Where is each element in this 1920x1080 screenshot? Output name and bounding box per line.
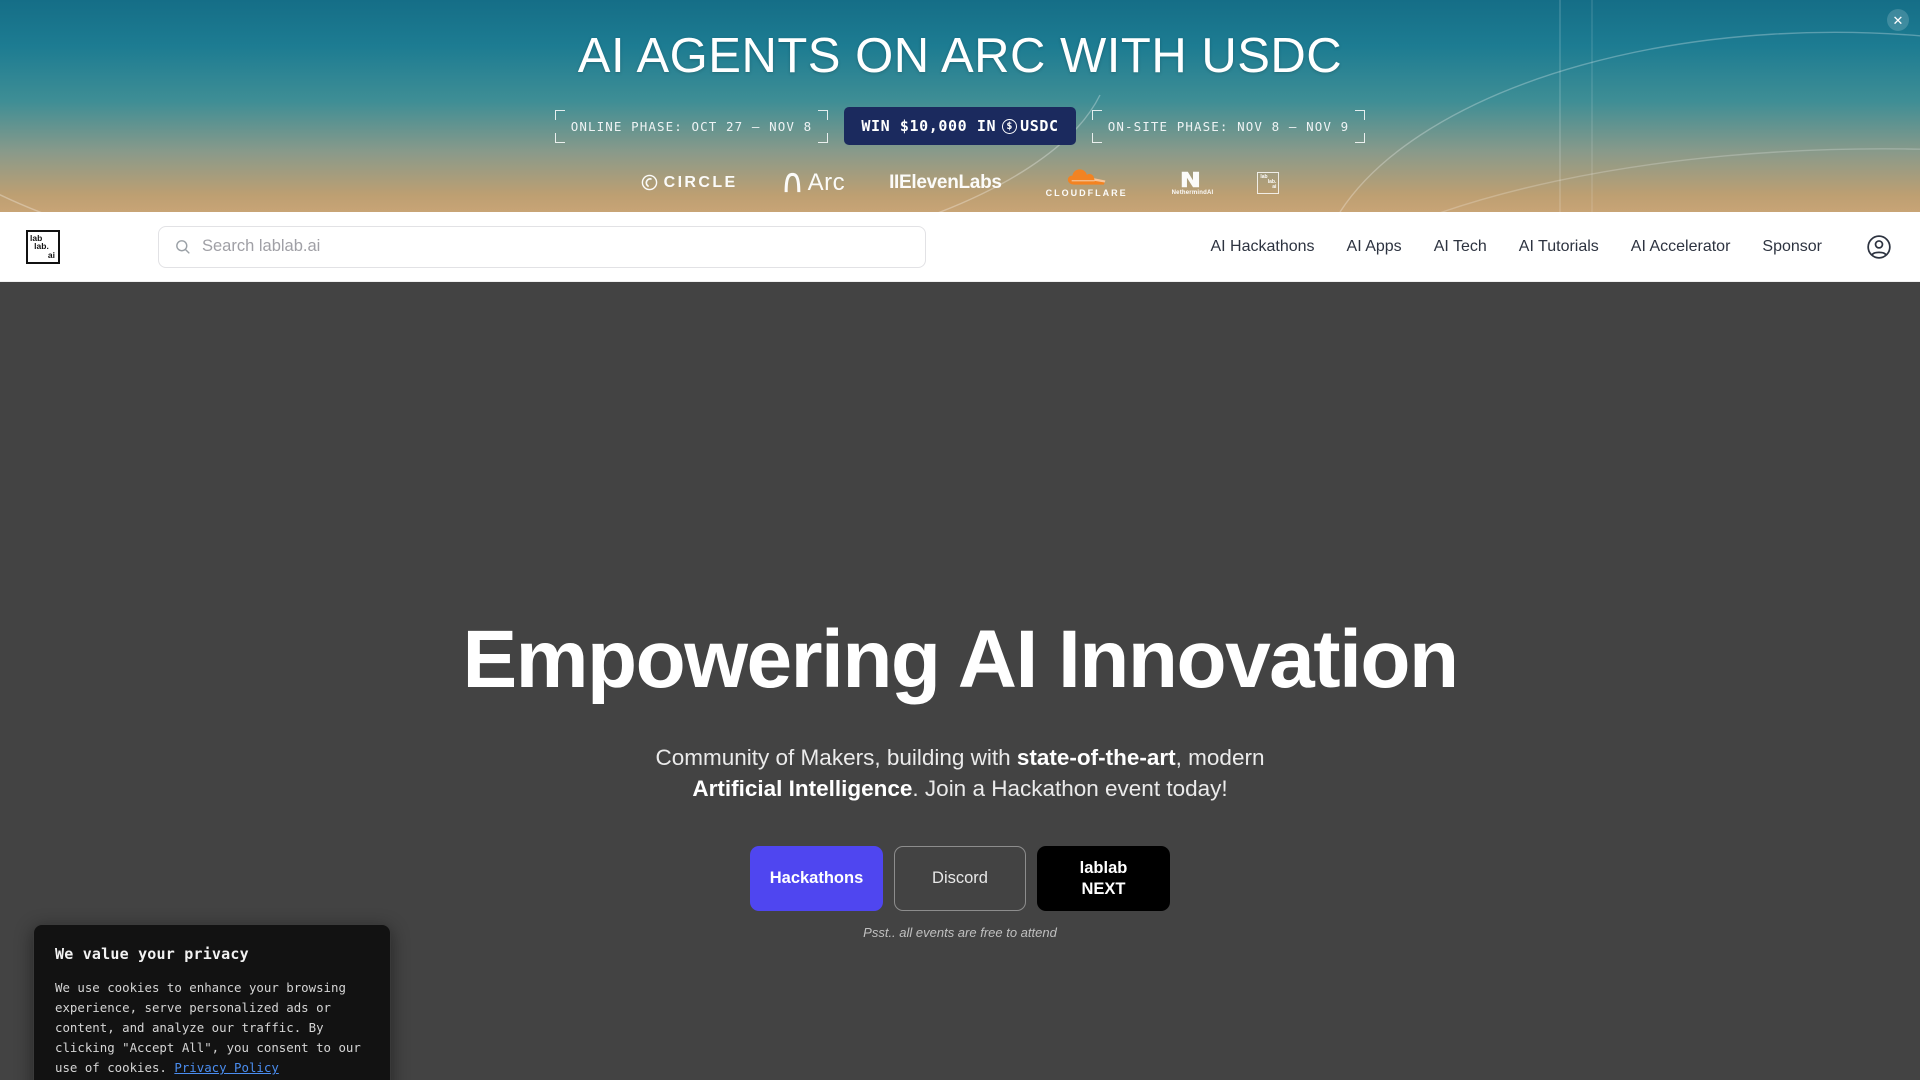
hackathons-button[interactable]: Hackathons	[750, 846, 883, 911]
cloudflare-logo-icon	[1064, 167, 1110, 187]
prize-suffix: USDC	[1020, 117, 1059, 135]
arc-logo-icon	[782, 171, 803, 194]
hero-section: Empowering AI Innovation Community of Ma…	[0, 282, 1920, 1080]
discord-button-label: Discord	[932, 868, 988, 889]
sponsor-logo-row: CIRCLE Arc IIElevenLabs CLOUDFLARE	[641, 167, 1280, 198]
prize-badge[interactable]: WIN $10,000 IN $ USDC	[844, 107, 1075, 145]
sponsor-arc[interactable]: Arc	[782, 169, 846, 197]
nav-item-ai-apps[interactable]: AI Apps	[1347, 238, 1402, 256]
subtitle-text-b: , modern	[1176, 745, 1265, 770]
site-header: lab lab. ai Search lablab.ai AI Hackatho…	[0, 212, 1920, 282]
online-phase-badge: ONLINE PHASE: OCT 27 – NOV 8	[555, 110, 829, 143]
sponsor-cloudflare[interactable]: CLOUDFLARE	[1046, 167, 1128, 198]
main-navigation: AI Hackathons AI Apps AI Tech AI Tutoria…	[1210, 234, 1892, 260]
onsite-phase-badge: ON-SITE PHASE: NOV 8 – NOV 9	[1092, 110, 1366, 143]
subtitle-emphasis-2: Artificial Intelligence	[692, 776, 912, 801]
discord-button[interactable]: Discord	[894, 846, 1026, 911]
sponsor-lablab[interactable]: lab lab. ai	[1257, 172, 1279, 194]
hero-subtitle-line-1: Community of Makers, building with state…	[656, 742, 1265, 773]
sponsor-lablab-line1: lab	[1260, 175, 1267, 180]
hero-subtitle: Community of Makers, building with state…	[656, 742, 1265, 804]
cookie-consent-dialog: We value your privacy We use cookies to …	[33, 924, 391, 1080]
hero-cta-row: Hackathons Discord lablab NEXT	[750, 846, 1170, 911]
logo-line-3: ai	[48, 251, 55, 260]
lablab-next-label-line2: NEXT	[1081, 879, 1125, 900]
promo-title: AI AGENTS ON ARC WITH USDC	[578, 32, 1342, 81]
usdc-dollar-icon: $	[1002, 119, 1017, 134]
cookie-dialog-body: We use cookies to enhance your browsing …	[55, 978, 369, 1078]
sponsor-nethermind[interactable]: NethermindAI	[1172, 170, 1214, 196]
logo-line-2: lab.	[34, 242, 49, 251]
nav-item-ai-hackathons[interactable]: AI Hackathons	[1210, 238, 1314, 256]
avatar-glyph-icon	[1866, 234, 1892, 260]
privacy-policy-link[interactable]: Privacy Policy	[174, 1060, 278, 1075]
nav-item-ai-tech[interactable]: AI Tech	[1434, 238, 1487, 256]
user-account-icon[interactable]	[1866, 234, 1892, 260]
nav-item-sponsor[interactable]: Sponsor	[1762, 238, 1822, 256]
circle-logo-icon	[641, 174, 658, 191]
sponsor-circle[interactable]: CIRCLE	[641, 174, 738, 192]
online-phase-label: ONLINE PHASE: OCT 27 – NOV 8	[571, 119, 813, 134]
hero-subtitle-line-2: Artificial Intelligence. Join a Hackatho…	[656, 773, 1265, 804]
sponsor-nethermind-label: NethermindAI	[1172, 190, 1214, 196]
subtitle-text-a: Community of Makers, building with	[656, 745, 1017, 770]
nav-item-ai-tutorials[interactable]: AI Tutorials	[1519, 238, 1599, 256]
sponsor-lablab-line3: ai	[1272, 185, 1276, 190]
onsite-phase-label: ON-SITE PHASE: NOV 8 – NOV 9	[1108, 119, 1350, 134]
free-events-note: Psst.. all events are free to attend	[863, 925, 1057, 940]
page-title: Empowering AI Innovation	[462, 619, 1457, 701]
nav-item-ai-accelerator[interactable]: AI Accelerator	[1631, 238, 1731, 256]
close-icon[interactable]: ✕	[1887, 9, 1909, 31]
lablab-next-button[interactable]: lablab NEXT	[1037, 846, 1170, 911]
lablab-next-label-line1: lablab	[1080, 858, 1128, 879]
sponsor-circle-label: CIRCLE	[664, 174, 738, 192]
sponsor-elevenlabs-label: IIElevenLabs	[889, 172, 1002, 194]
sponsor-arc-label: Arc	[808, 169, 846, 197]
cookie-dialog-title: We value your privacy	[55, 945, 369, 963]
nethermind-logo-icon	[1180, 170, 1206, 189]
promo-phase-row: ONLINE PHASE: OCT 27 – NOV 8 WIN $10,000…	[555, 107, 1365, 145]
hackathons-button-label: Hackathons	[770, 868, 864, 889]
search-placeholder: Search lablab.ai	[202, 237, 320, 256]
subtitle-emphasis-1: state-of-the-art	[1017, 745, 1176, 770]
prize-prefix: WIN $10,000 IN	[861, 117, 996, 135]
subtitle-text-c: . Join a Hackathon event today!	[912, 776, 1227, 801]
search-icon	[174, 238, 191, 255]
lablab-logo-icon[interactable]: lab lab. ai	[26, 230, 60, 264]
sponsor-elevenlabs[interactable]: IIElevenLabs	[889, 172, 1002, 194]
sponsor-cloudflare-label: CLOUDFLARE	[1046, 188, 1128, 198]
promo-banner[interactable]: ✕ AI AGENTS ON ARC WITH USDC ONLINE PHAS…	[0, 0, 1920, 212]
search-input[interactable]: Search lablab.ai	[158, 226, 926, 268]
